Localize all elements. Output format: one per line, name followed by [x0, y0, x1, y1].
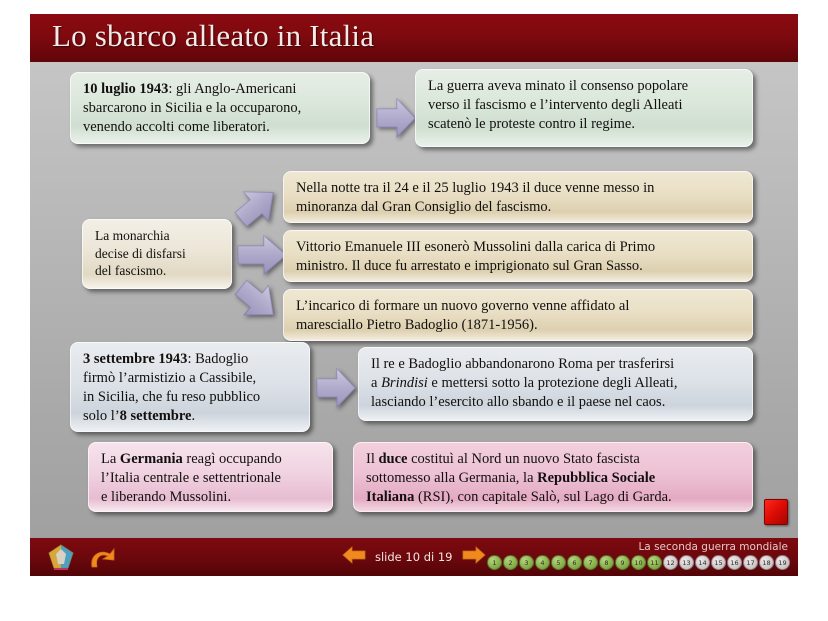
- box-text-line: L’incarico di formare un nuovo governo v…: [296, 297, 741, 316]
- slide-dot-4[interactable]: 4: [535, 555, 550, 570]
- box-badoglio-incarico: L’incarico di formare un nuovo governo v…: [283, 289, 753, 341]
- slide-dot-2[interactable]: 2: [503, 555, 518, 570]
- box-text-line: minoranza dal Gran Consiglio del fascism…: [296, 198, 741, 217]
- box-text-line: La monarchia: [95, 227, 220, 245]
- slide-dot-14[interactable]: 14: [695, 555, 710, 570]
- slide-dot-8[interactable]: 8: [599, 555, 614, 570]
- slide-title-bar: Lo sbarco alleato in Italia: [30, 14, 798, 62]
- next-slide-button[interactable]: [462, 545, 486, 570]
- slide-counter-label: slide 10 di 19: [375, 550, 453, 564]
- slide-progress-dots: 12345678910111213141516171819: [487, 555, 790, 570]
- box-text-line: firmò l’armistizio a Cassibile,: [83, 369, 298, 388]
- page-title: Lo sbarco alleato in Italia: [52, 18, 374, 54]
- box-text-line: decise di disfarsi: [95, 245, 220, 263]
- box-text-line: verso il fascismo e l’intervento degli A…: [428, 96, 741, 115]
- slide-dot-1[interactable]: 1: [487, 555, 502, 570]
- box-text-line: scatenò le proteste contro il regime.: [428, 115, 741, 134]
- slide-dot-19[interactable]: 19: [775, 555, 790, 570]
- box-text-line: del fascismo.: [95, 262, 220, 280]
- arrow-right-brindisi: [315, 366, 357, 410]
- box-text-line: sbarcarono in Sicilia e la occuparono,: [83, 99, 358, 118]
- box-germania-reagi: La Germania reagì occupandol’Italia cent…: [88, 442, 333, 512]
- slide-dot-7[interactable]: 7: [583, 555, 598, 570]
- box-fuga-brindisi: Il re e Badoglio abbandonarono Roma per …: [358, 347, 753, 421]
- box-text-line: Il duce costituì al Nord un nuovo Stato …: [366, 450, 741, 469]
- slide-dot-18[interactable]: 18: [759, 555, 774, 570]
- box-sbarco-sicilia: 10 luglio 1943: gli Anglo-Americanisbarc…: [70, 72, 370, 144]
- box-text-line: solo l’8 settembre.: [83, 407, 298, 426]
- box-text-line: venendo accolti come liberatori.: [83, 118, 358, 137]
- arrow-upright-gran-consiglio: [232, 182, 282, 230]
- slide-dot-16[interactable]: 16: [727, 555, 742, 570]
- box-text-line: maresciallo Pietro Badoglio (1871-1956).: [296, 316, 741, 335]
- box-rsi: Il duce costituì al Nord un nuovo Stato …: [353, 442, 753, 512]
- slide-navigation: slide 10 di 19: [342, 544, 486, 570]
- slide-dot-6[interactable]: 6: [567, 555, 582, 570]
- slide-dot-9[interactable]: 9: [615, 555, 630, 570]
- undo-arrow-icon[interactable]: [88, 547, 116, 569]
- box-consenso-popolare: La guerra aveva minato il consenso popol…: [415, 69, 753, 147]
- box-text-line: lasciando l’esercito allo sbando e il pa…: [371, 393, 741, 412]
- box-text-line: ministro. Il duce fu arrestato e imprigi…: [296, 257, 741, 276]
- slide-dot-11[interactable]: 11: [647, 555, 662, 570]
- box-monarchia: La monarchiadecise di disfarsidel fascis…: [82, 219, 232, 289]
- slide-dot-12[interactable]: 12: [663, 555, 678, 570]
- box-text-line: La Germania reagì occupando: [101, 450, 321, 469]
- slide-dot-5[interactable]: 5: [551, 555, 566, 570]
- box-text-line: in Sicilia, che fu reso pubblico: [83, 388, 298, 407]
- box-text-line: 3 settembre 1943: Badoglio: [83, 350, 298, 369]
- prev-slide-button[interactable]: [342, 545, 366, 570]
- box-text-line: e liberando Mussolini.: [101, 488, 321, 507]
- box-text-line: 10 luglio 1943: gli Anglo-Americani: [83, 80, 358, 99]
- box-text-line: Vittorio Emanuele III esonerò Mussolini …: [296, 238, 741, 257]
- slide-footer-bar: slide 10 di 19 La seconda guerra mondial…: [30, 538, 798, 576]
- pentagon-logo-icon[interactable]: [48, 544, 74, 570]
- slide-dot-15[interactable]: 15: [711, 555, 726, 570]
- box-text-line: Il re e Badoglio abbandonarono Roma per …: [371, 355, 741, 374]
- arrow-right-sbarco: [375, 96, 417, 140]
- arrow-right-vittorio-emanuele: [236, 233, 288, 277]
- arrow-downright-badoglio: [232, 276, 282, 326]
- box-text-line: Nella notte tra il 24 e il 25 luglio 194…: [296, 179, 741, 198]
- slide-dot-10[interactable]: 10: [631, 555, 646, 570]
- slide-canvas: Lo sbarco alleato in Italia 10 luglio 19…: [30, 14, 798, 576]
- box-text-line: Italiana (RSI), con capitale Salò, sul L…: [366, 488, 741, 507]
- course-title-label: La seconda guerra mondiale: [638, 541, 788, 553]
- slide-dot-13[interactable]: 13: [679, 555, 694, 570]
- box-vittorio-emanuele: Vittorio Emanuele III esonerò Mussolini …: [283, 230, 753, 282]
- box-gran-consiglio: Nella notte tra il 24 e il 25 luglio 194…: [283, 171, 753, 223]
- slide-dot-17[interactable]: 17: [743, 555, 758, 570]
- slide-dot-3[interactable]: 3: [519, 555, 534, 570]
- red-stop-square[interactable]: [764, 499, 788, 525]
- box-armistizio-cassibile: 3 settembre 1943: Badogliofirmò l’armist…: [70, 342, 310, 432]
- box-text-line: sottomesso alla Germania, la Repubblica …: [366, 469, 741, 488]
- box-text-line: La guerra aveva minato il consenso popol…: [428, 77, 741, 96]
- box-text-line: a Brindisi e mettersi sotto la protezion…: [371, 374, 741, 393]
- box-text-line: l’Italia centrale e settentrionale: [101, 469, 321, 488]
